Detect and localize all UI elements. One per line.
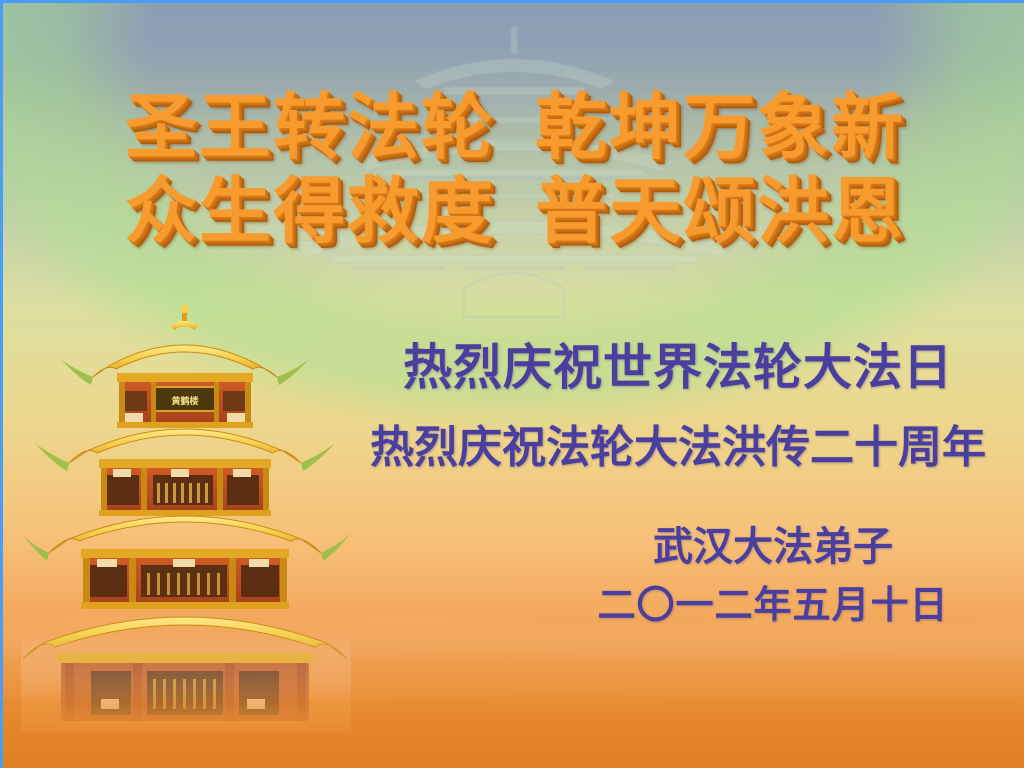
tower-finial: [171, 305, 198, 330]
celebration-poster: 圣王转法轮乾坤万象新 众生得救度普天颂洪恩 热烈庆祝世界法轮大法日 热烈庆祝法轮…: [0, 0, 1024, 768]
couplet-line-1: 圣王转法轮乾坤万象新: [3, 85, 1024, 169]
tower-plaque-text: 黄鹤楼: [171, 395, 198, 407]
yellow-crane-tower: 黄鹤楼: [21, 303, 351, 733]
ghost-pagoda-watermark: [234, 21, 794, 321]
couplet-line-1-right: 乾坤万象新: [535, 84, 905, 169]
foreground-ground: [3, 648, 1024, 768]
couplet-block: 圣王转法轮乾坤万象新 众生得救度普天颂洪恩: [3, 85, 1024, 253]
signature-date: 二〇一二年五月十日: [523, 579, 1023, 631]
signature-block: 武汉大法弟子 二〇一二年五月十日: [523, 521, 1023, 631]
misty-mountains: [3, 528, 1024, 768]
couplet-line-2-right: 普天颂洪恩: [535, 168, 905, 253]
page-title: 热烈庆祝世界法轮大法日: [333, 337, 1023, 397]
couplet-line-2-left: 众生得救度: [125, 168, 495, 253]
signature-author: 武汉大法弟子: [523, 521, 1023, 573]
couplet-line-2: 众生得救度普天颂洪恩: [3, 169, 1024, 253]
sky-haze: [3, 3, 1024, 303]
page-subtitle: 热烈庆祝法轮大法洪传二十周年: [333, 419, 1023, 477]
heading-block: 热烈庆祝世界法轮大法日 热烈庆祝法轮大法洪传二十周年: [333, 337, 1023, 477]
couplet-line-1-left: 圣王转法轮: [125, 84, 495, 169]
rainbow-halo-arc: [0, 0, 1024, 433]
